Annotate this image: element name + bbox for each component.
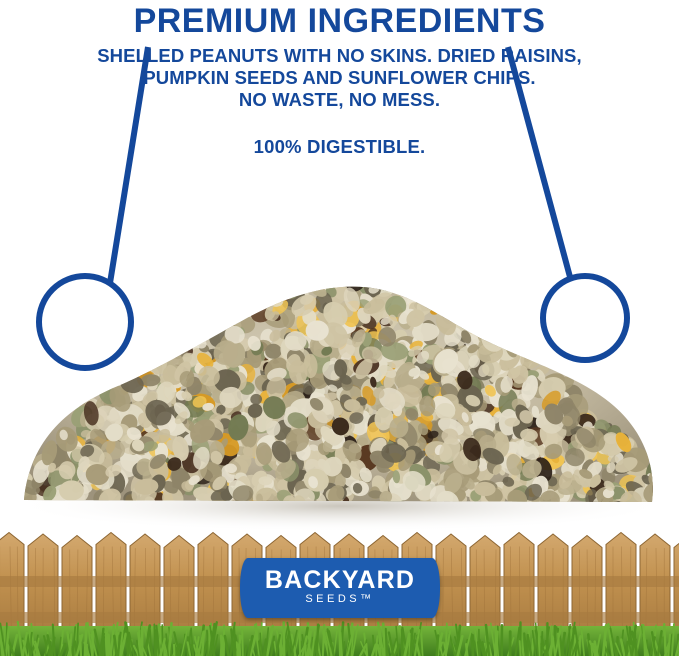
brand-logo: BACKYARD SEEDS™ [240,558,440,618]
subheadline-line-3: NO WASTE, NO MESS. [0,89,679,111]
brand-tagline: SEEDS™ [240,593,440,606]
seed-pile-image [0,170,679,530]
subheadline: SHELLED PEANUTS WITH NO SKINS. DRIED RAI… [0,45,679,111]
seed-pile-svg [0,170,679,530]
seed-texture [4,274,678,516]
subheadline-line-1: SHELLED PEANUTS WITH NO SKINS. DRIED RAI… [0,45,679,67]
product-infographic: PREMIUM INGREDIENTS SHELLED PEANUTS WITH… [0,0,679,656]
subheadline-line-2: PUMPKIN SEEDS AND SUNFLOWER CHIPS. [0,67,679,89]
page-title: PREMIUM INGREDIENTS [0,2,679,40]
brand-name: BACKYARD [240,567,440,593]
digestible-claim: 100% DIGESTIBLE. [0,136,679,158]
